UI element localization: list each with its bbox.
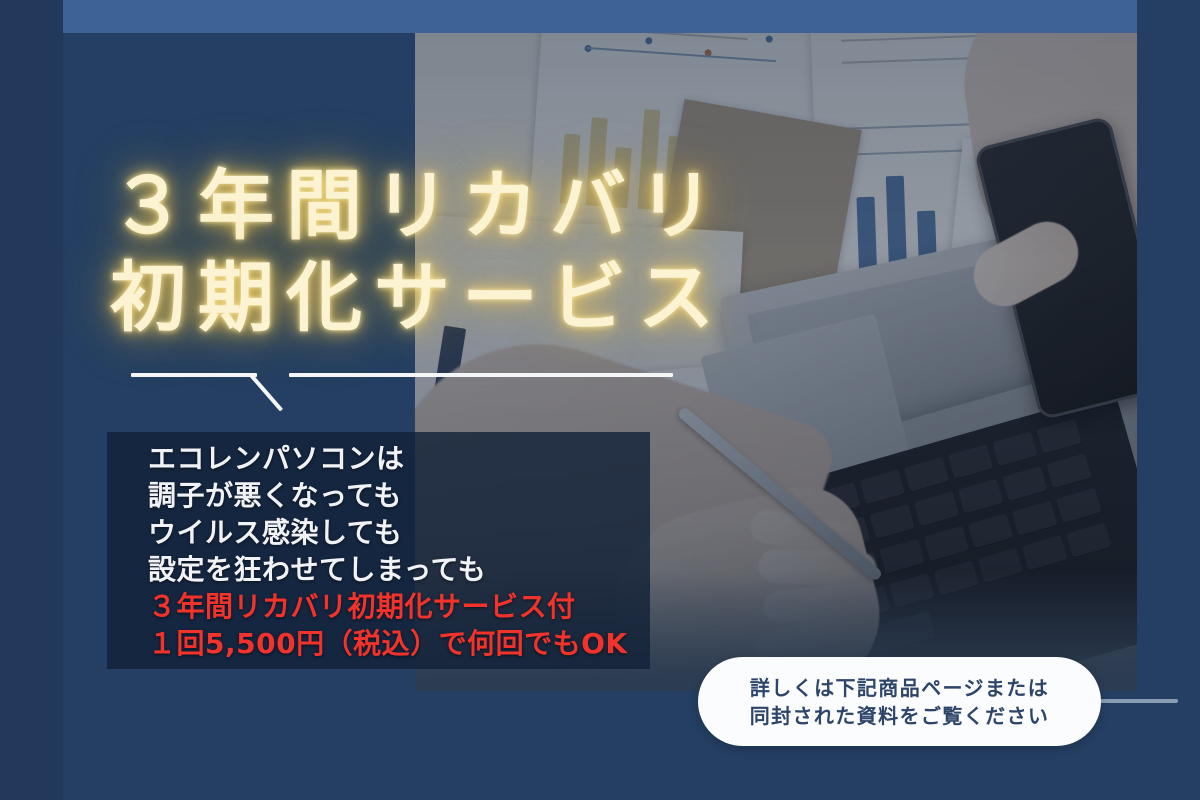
- callout-pill[interactable]: 詳しくは下記商品ページまたは 同封された資料をご覧ください: [698, 657, 1101, 746]
- left-accent-strip: [0, 0, 63, 800]
- page-title: ３年間リカバリ 初期化サービス: [110, 160, 870, 344]
- banner-canvas: ３年間リカバリ 初期化サービス エコレンパソコンは 調子が悪くなっても ウイルス…: [0, 0, 1200, 800]
- callout-pill-text: 詳しくは下記商品ページまたは 同封された資料をご覧ください: [750, 674, 1050, 730]
- body-copy-plain: エコレンパソコンは 調子が悪くなっても ウイルス感染しても 設定を狂わせてしまっ…: [148, 442, 486, 586]
- divider-rule-right: [289, 373, 673, 377]
- top-accent-bar: [63, 0, 1137, 33]
- divider-rule-left: [131, 373, 257, 377]
- body-copy-highlight: ３年間リカバリ初期化サービス付 １回5,500円（税込）で何回でもOK: [148, 590, 628, 660]
- body-copy: エコレンパソコンは 調子が悪くなっても ウイルス感染しても 設定を狂わせてしまっ…: [148, 440, 688, 662]
